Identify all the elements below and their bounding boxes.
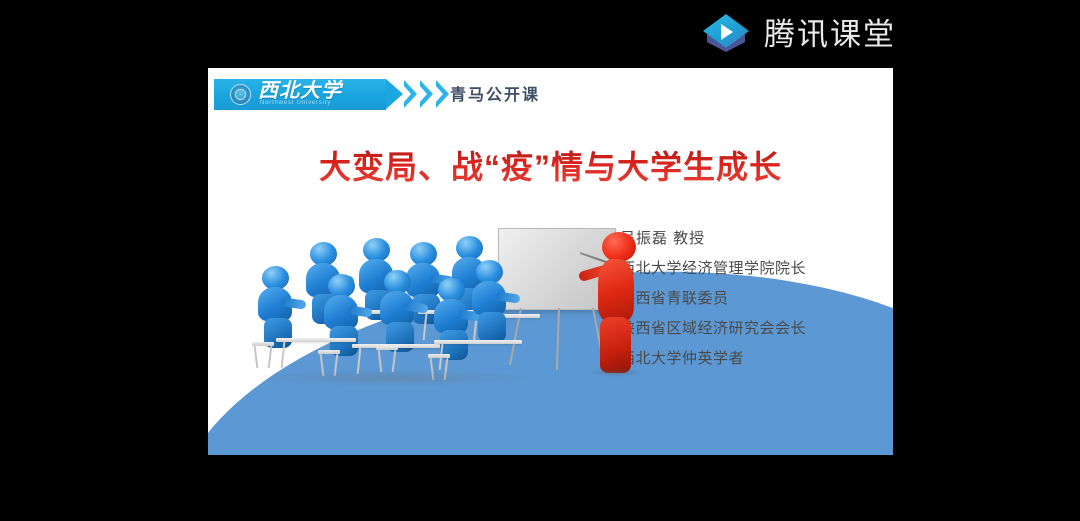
desk [434,340,522,344]
tencent-classroom-brand: 腾讯课堂 [700,10,896,58]
teacher-shadow [588,368,644,377]
classroom-lecture-illustration [228,218,648,433]
teacher-head [602,232,636,262]
group-shadow [252,370,532,386]
university-name-en-label: Northwest University [260,100,331,106]
teacher-figure [580,232,658,382]
chair [318,350,340,354]
desk [276,338,356,342]
speaker-title-line: 陕西省青联委员 [620,284,882,314]
easel-leg [556,308,560,370]
brand-name-label: 腾讯课堂 [764,19,896,50]
slide-title: 大变局、战“疫”情与大学生成长 [208,142,893,188]
chevron-right-icon [420,80,433,108]
student-figure [380,270,434,366]
chair [376,346,398,350]
course-series-label: 青马公开课 [450,81,540,105]
teacher-legs [600,317,631,373]
presentation-slide: 西北大学 Northwest University 青马公开课 大变局、战“疫”… [208,68,893,455]
university-seal-icon [230,84,251,105]
speaker-title-line: 西北大学仲英学者 [620,344,882,374]
chevron-right-icon [404,80,417,108]
speaker-title-line: 陕西省区域经济研究会会长 [620,314,882,344]
teacher-body [598,259,634,321]
student-figure [258,266,312,362]
chair [428,354,450,358]
speaker-info-block: 吴振磊 教授 西北大学经济管理学院院长 陕西省青联委员 陕西省区域经济研究会会长… [620,224,882,374]
graduation-cap-play-icon [700,11,752,57]
student-figure [324,274,378,370]
chevron-right-icon [436,80,449,108]
speaker-name-line: 吴振磊 教授 [620,224,882,254]
student-legs [478,312,506,342]
slide-header-banner: 西北大学 Northwest University [214,79,386,110]
platform-top-bar: 腾讯课堂 [0,0,1080,68]
chair [252,342,274,346]
play-triangle-icon [721,24,733,40]
speaker-title-line: 西北大学经济管理学院院长 [620,254,882,284]
university-name-label: 西北大学 [258,81,342,101]
chevron-group [404,80,449,108]
